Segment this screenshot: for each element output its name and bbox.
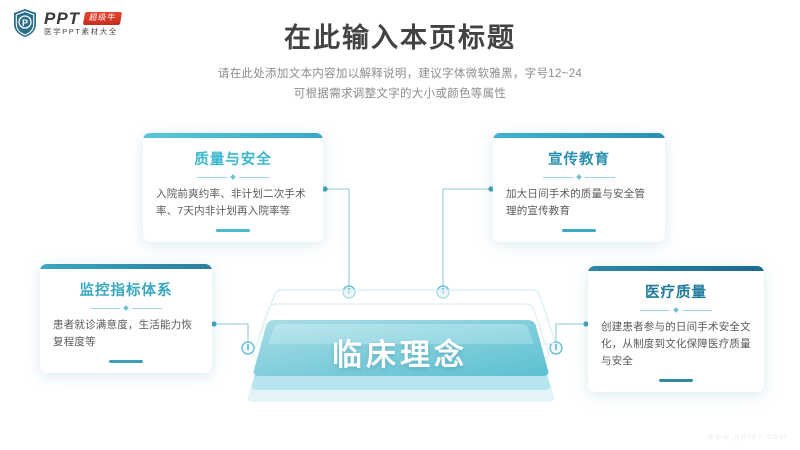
divider-line-left (90, 308, 120, 309)
divider-diamond-icon (230, 174, 236, 180)
card-title: 质量与安全 (156, 148, 310, 169)
divider-line-right (682, 310, 712, 311)
card-accent-bar (659, 379, 693, 382)
page-title: 在此输入本页标题 (0, 16, 800, 55)
card-foot (601, 379, 751, 382)
divider-line-left (197, 177, 227, 178)
card-body: 加大日间手术的质量与安全管理的宣传教育 (506, 186, 652, 220)
slide-header: 在此输入本页标题 请在此处添加文本内容加以解释说明，建议字体微软雅黑，字号12~… (0, 16, 800, 104)
card-divider (506, 175, 652, 179)
divider-line-left (640, 310, 670, 311)
card-title: 宣传教育 (506, 148, 652, 169)
subtitle-block: 请在此处添加文本内容加以解释说明，建议字体微软雅黑，字号12~24 可根据需求调… (0, 64, 800, 104)
card-body: 入院前爽约率、非计划二次手术率、7天内非计划再入院率等 (156, 186, 310, 220)
divider-diamond-icon (673, 307, 679, 313)
divider-diamond-icon (123, 305, 129, 311)
card-divider (53, 306, 199, 310)
center-stack-graphic (236, 284, 566, 414)
divider-line-left (543, 177, 573, 178)
card-accent-bar (109, 360, 143, 363)
card-title: 医疗质量 (601, 281, 751, 302)
divider-diamond-icon (576, 174, 582, 180)
card-accent-bar (562, 229, 596, 232)
subtitle-line-1: 请在此处添加文本内容加以解释说明，建议字体微软雅黑，字号12~24 (0, 64, 800, 84)
card-foot (156, 229, 310, 232)
card-foot (53, 360, 199, 363)
card-divider (601, 308, 751, 312)
card-foot (506, 229, 652, 232)
divider-line-right (239, 177, 269, 178)
card-accent-bar (216, 229, 250, 232)
subtitle-line-2: 可根据需求调整文字的大小或颜色等属性 (0, 84, 800, 104)
card-quality[interactable]: 质量与安全 入院前爽约率、非计划二次手术率、7天内非计划再入院率等 (143, 133, 323, 242)
card-body: 创建患者参与的日间手术安全文化，从制度到文化保障医疗质量与安全 (601, 319, 751, 370)
card-monitor[interactable]: 监控指标体系 患者就诊满意度，生活能力恢复程度等 (40, 264, 212, 373)
card-divider (156, 175, 310, 179)
watermark: www.ppter.com (708, 432, 788, 441)
card-promo[interactable]: 宣传教育 加大日间手术的质量与安全管理的宣传教育 (493, 133, 665, 242)
divider-line-right (585, 177, 615, 178)
card-body: 患者就诊满意度，生活能力恢复程度等 (53, 317, 199, 351)
card-medical[interactable]: 医疗质量 创建患者参与的日间手术安全文化，从制度到文化保障医疗质量与安全 (588, 266, 764, 392)
divider-line-right (132, 308, 162, 309)
card-title: 监控指标体系 (53, 279, 199, 300)
